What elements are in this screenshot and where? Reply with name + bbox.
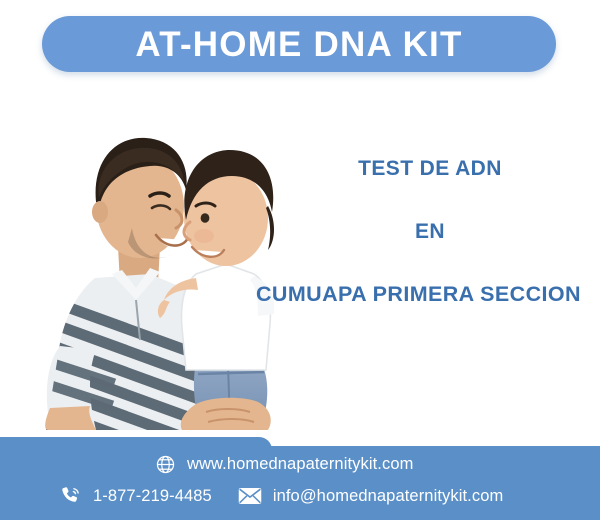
headline-block: TEST DE ADN EN CUMUAPA PRIMERA SECCION	[250, 158, 600, 306]
phone-icon	[60, 485, 82, 507]
footer-phone-text: 1-877-219-4485	[93, 488, 212, 505]
headline-line-1: TEST DE ADN	[250, 158, 600, 179]
page-title: AT-HOME DNA KIT	[135, 27, 462, 62]
footer-website-text: www.homednapaternitykit.com	[187, 456, 413, 473]
footer-contact-row-top: www.homednapaternitykit.com	[155, 454, 413, 475]
footer-phone[interactable]: 1-877-219-4485	[60, 485, 212, 507]
footer-contact-row-bottom: 1-877-219-4485 info@homednapaternitykit.…	[60, 484, 503, 508]
footer-website[interactable]: www.homednapaternitykit.com	[155, 454, 413, 475]
headline-line-2: EN	[250, 221, 600, 242]
envelope-icon	[238, 484, 262, 508]
globe-icon	[155, 454, 176, 475]
footer-email[interactable]: info@homednapaternitykit.com	[238, 484, 504, 508]
headline-line-3-location: CUMUAPA PRIMERA SECCION	[250, 284, 600, 306]
header-pill: AT-HOME DNA KIT	[42, 16, 556, 72]
footer-email-text: info@homednapaternitykit.com	[273, 488, 504, 505]
promo-banner: AT-HOME DNA KIT	[0, 0, 600, 520]
